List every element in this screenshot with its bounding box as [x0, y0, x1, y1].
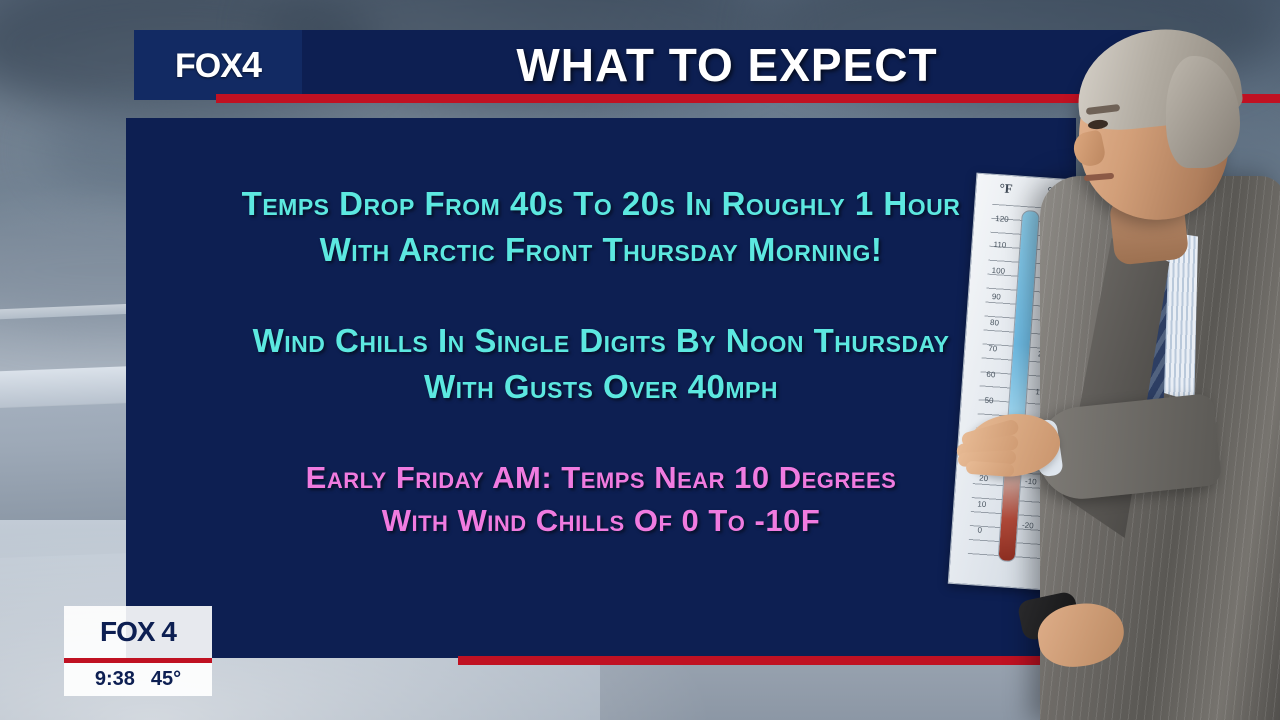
forecast-text-block: Temps Drop from 40s to 20s in Roughly 1 …	[126, 118, 1076, 658]
station-bug-logo-area: FOX 4	[64, 606, 212, 658]
station-bug-info: 9:38 45°	[64, 663, 212, 696]
current-temperature: 45°	[151, 668, 181, 691]
forecast-line: with Arctic Front Thursday Morning!	[126, 232, 1076, 268]
network-logo-text: FOX4	[175, 44, 261, 86]
network-logo-box: FOX4	[134, 30, 302, 100]
station-bug: FOX 4 9:38 45°	[64, 606, 212, 696]
clock-time: 9:38	[95, 668, 135, 691]
broadcast-screenshot: FOX4 WHAT TO EXPECT Temps Drop from 40s …	[0, 0, 1280, 720]
network-number: 4	[242, 44, 261, 85]
forecast-line: Early Friday AM: Temps Near 10 Degrees	[126, 461, 1076, 494]
station-bug-logo: FOX 4	[100, 616, 176, 648]
forecast-line: with Gusts over 40mph	[126, 369, 1076, 405]
forecast-line: with Wind Chills of 0 to -10F	[126, 504, 1076, 537]
forecast-line: Wind Chills in Single Digits by Noon Thu…	[126, 323, 1076, 359]
forecast-line: Temps Drop from 40s to 20s in Roughly 1 …	[126, 186, 1076, 222]
meteorologist	[980, 0, 1280, 720]
